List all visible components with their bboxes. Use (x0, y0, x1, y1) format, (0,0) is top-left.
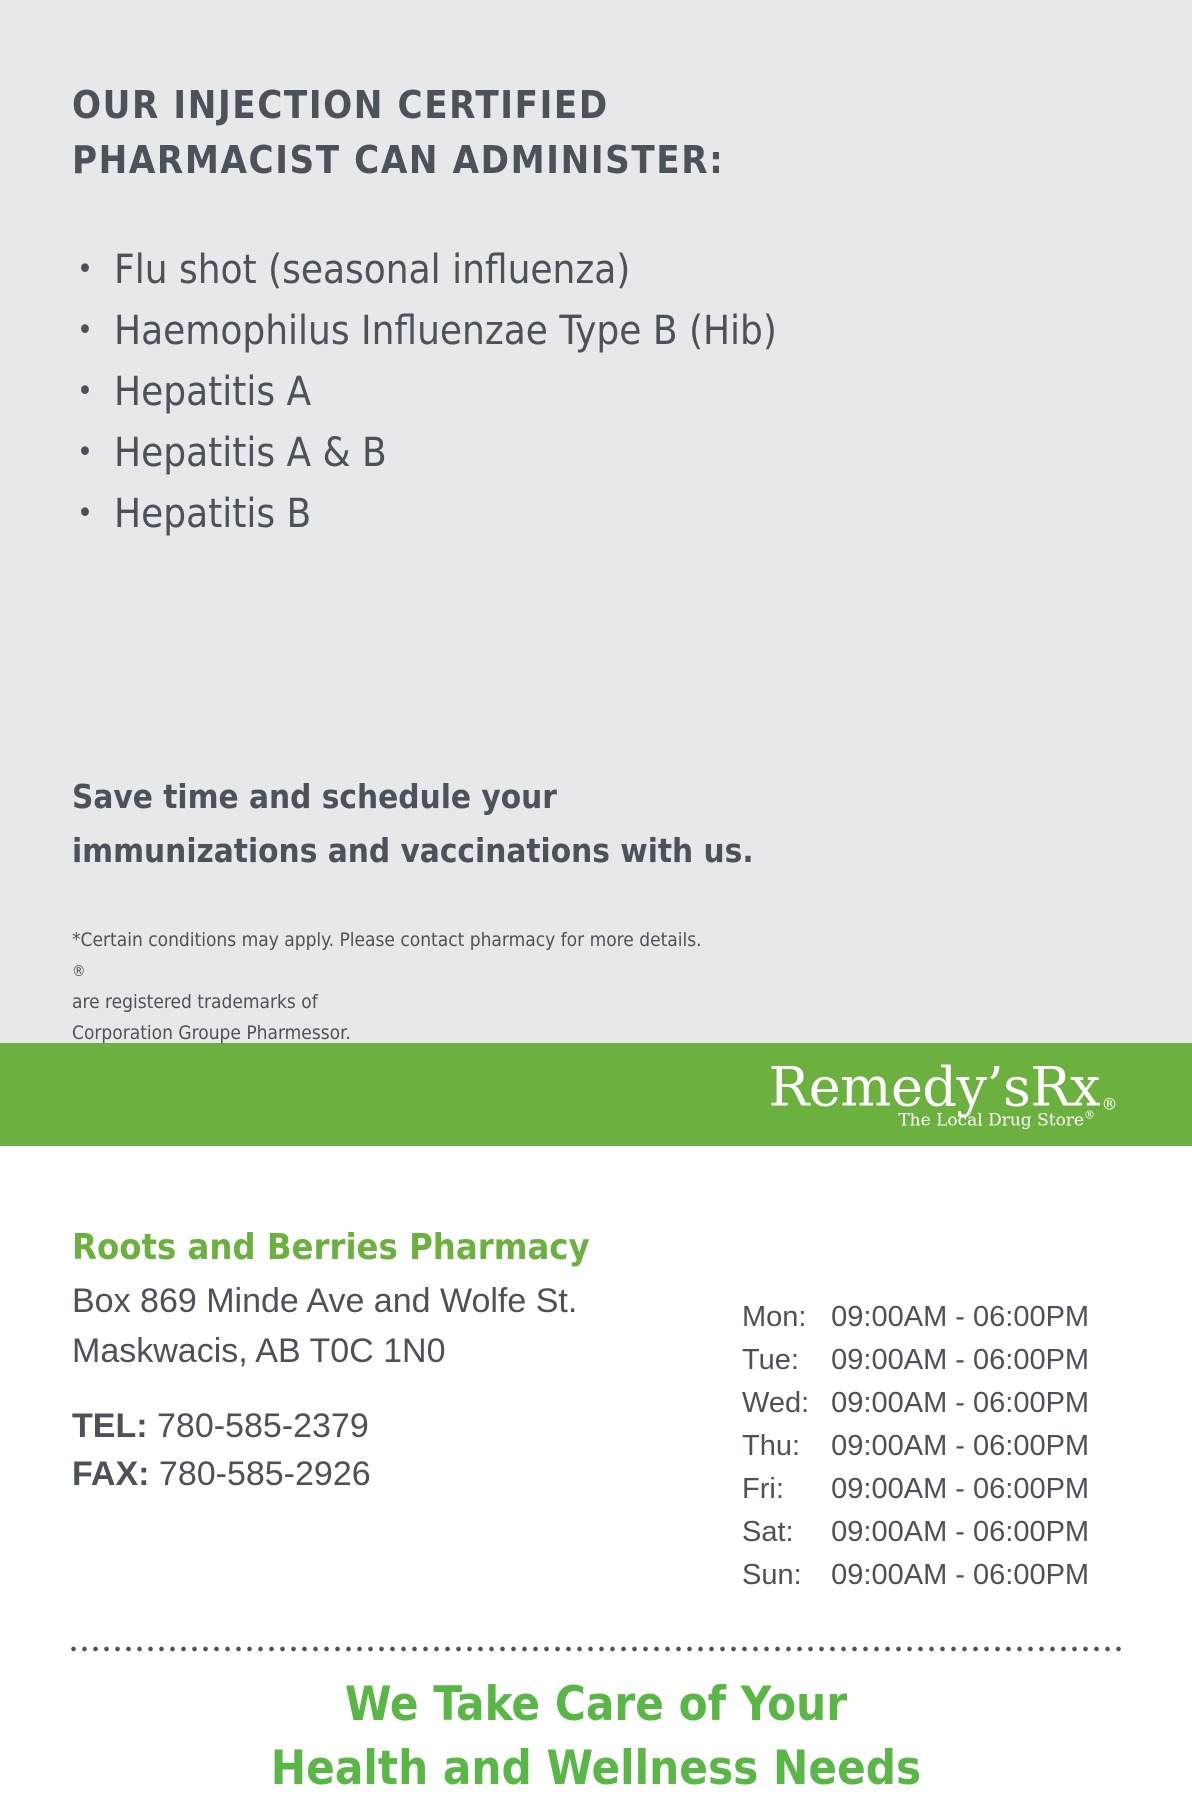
hours-day: Sat: (742, 1511, 831, 1554)
fax-label: FAX: (72, 1455, 149, 1493)
table-row: Mon: 09:00AM - 06:00PM (742, 1296, 1089, 1339)
store-info-area: Roots and Berries Pharmacy Box 869 Minde… (0, 1146, 1192, 1785)
telephone-row: TEL: 780-585-2379 (72, 1402, 692, 1450)
hours-time: 09:00AM - 06:00PM (831, 1382, 1089, 1425)
brand-band: Remedy’sRx® The Local Drug Store® (0, 1043, 1192, 1146)
telephone-label: TEL: (72, 1407, 148, 1445)
hours-day: Mon: (742, 1296, 831, 1339)
table-row: Fri: 09:00AM - 06:00PM (742, 1468, 1089, 1511)
pharmacy-flyer: Our Injection Certified Pharmacist Can A… (0, 0, 1192, 1785)
store-contact-block: Roots and Berries Pharmacy Box 869 Minde… (72, 1224, 692, 1498)
hours-time: 09:00AM - 06:00PM (831, 1425, 1089, 1468)
table-row: Tue: 09:00AM - 06:00PM (742, 1339, 1089, 1382)
list-item: Hepatitis A & B (72, 423, 1032, 484)
store-address-line-1: Box 869 Minde Ave and Wolfe St. (72, 1276, 692, 1326)
table-row: Thu: 09:00AM - 06:00PM (742, 1425, 1089, 1468)
brand-registered-icon: ® (1102, 1094, 1118, 1113)
hours-time: 09:00AM - 06:00PM (831, 1554, 1089, 1597)
store-address-line-2: Maskwacis, AB T0C 1N0 (72, 1326, 692, 1376)
closing-tagline-line-2: Health and Wellness Needs (0, 1737, 1192, 1801)
store-contact-numbers: TEL: 780-585-2379 FAX: 780-585-2926 (72, 1402, 692, 1498)
hours-time: 09:00AM - 06:00PM (831, 1468, 1089, 1511)
hours-time: 09:00AM - 06:00PM (831, 1339, 1089, 1382)
page-title-line-2: Pharmacist Can Administer: (72, 133, 892, 188)
disclaimer-text-post: are registered trademarks of (72, 987, 1112, 1018)
page-title: Our Injection Certified Pharmacist Can A… (72, 78, 892, 188)
brand-tagline-text: The Local Drug Store (898, 1110, 1084, 1130)
hours-day: Sun: (742, 1554, 831, 1597)
disclaimer: *Certain conditions may apply. Please co… (72, 925, 1112, 1049)
schedule-callout-line-2: immunizations and vaccinations with us. (72, 824, 902, 878)
vaccine-list: Flu shot (seasonal influenza) Haemophilu… (72, 240, 1032, 545)
services-panel: Our Injection Certified Pharmacist Can A… (0, 0, 1192, 1043)
table-row: Sun: 09:00AM - 06:00PM (742, 1554, 1089, 1597)
list-item: Hepatitis B (72, 484, 1032, 545)
hours-day: Thu: (742, 1425, 831, 1468)
list-item: Flu shot (seasonal influenza) (72, 240, 1032, 301)
list-item: Haemophilus Influenzae Type B (Hib) (72, 301, 1032, 362)
table-row: Sat: 09:00AM - 06:00PM (742, 1511, 1089, 1554)
list-item: Hepatitis A (72, 362, 1032, 423)
page-title-line-1: Our Injection Certified (72, 78, 892, 133)
dotted-divider (68, 1646, 1124, 1652)
table-row: Wed: 09:00AM - 06:00PM (742, 1382, 1089, 1425)
fax-value: 780-585-2926 (159, 1455, 371, 1493)
closing-tagline: We Take Care of Your Health and Wellness… (0, 1673, 1192, 1801)
store-hours-table: Mon: 09:00AM - 06:00PM Tue: 09:00AM - 06… (742, 1296, 1089, 1597)
closing-tagline-line-1: We Take Care of Your (0, 1673, 1192, 1737)
fax-row: FAX: 780-585-2926 (72, 1450, 692, 1498)
schedule-callout: Save time and schedule your immunization… (72, 770, 902, 878)
brand-tagline-tm-icon: ® (1084, 1108, 1095, 1121)
registered-trademark-icon: ® (72, 956, 1112, 987)
store-name: Roots and Berries Pharmacy (72, 1224, 692, 1272)
hours-day: Wed: (742, 1382, 831, 1425)
remedysrx-logo: Remedy’sRx® The Local Drug Store® (769, 1060, 1117, 1129)
store-address: Box 869 Minde Ave and Wolfe St. Maskwaci… (72, 1276, 692, 1376)
hours-time: 09:00AM - 06:00PM (831, 1511, 1089, 1554)
disclaimer-text-pre: *Certain conditions may apply. Please co… (72, 925, 1112, 956)
disclaimer-line-1: *Certain conditions may apply. Please co… (72, 925, 1112, 1018)
hours-day: Tue: (742, 1339, 831, 1382)
telephone-value[interactable]: 780-585-2379 (157, 1407, 369, 1445)
schedule-callout-line-1: Save time and schedule your (72, 770, 902, 824)
hours-day: Fri: (742, 1468, 831, 1511)
brand-wordmark: Remedy’sRx® (769, 1060, 1117, 1114)
hours-time: 09:00AM - 06:00PM (831, 1296, 1089, 1339)
